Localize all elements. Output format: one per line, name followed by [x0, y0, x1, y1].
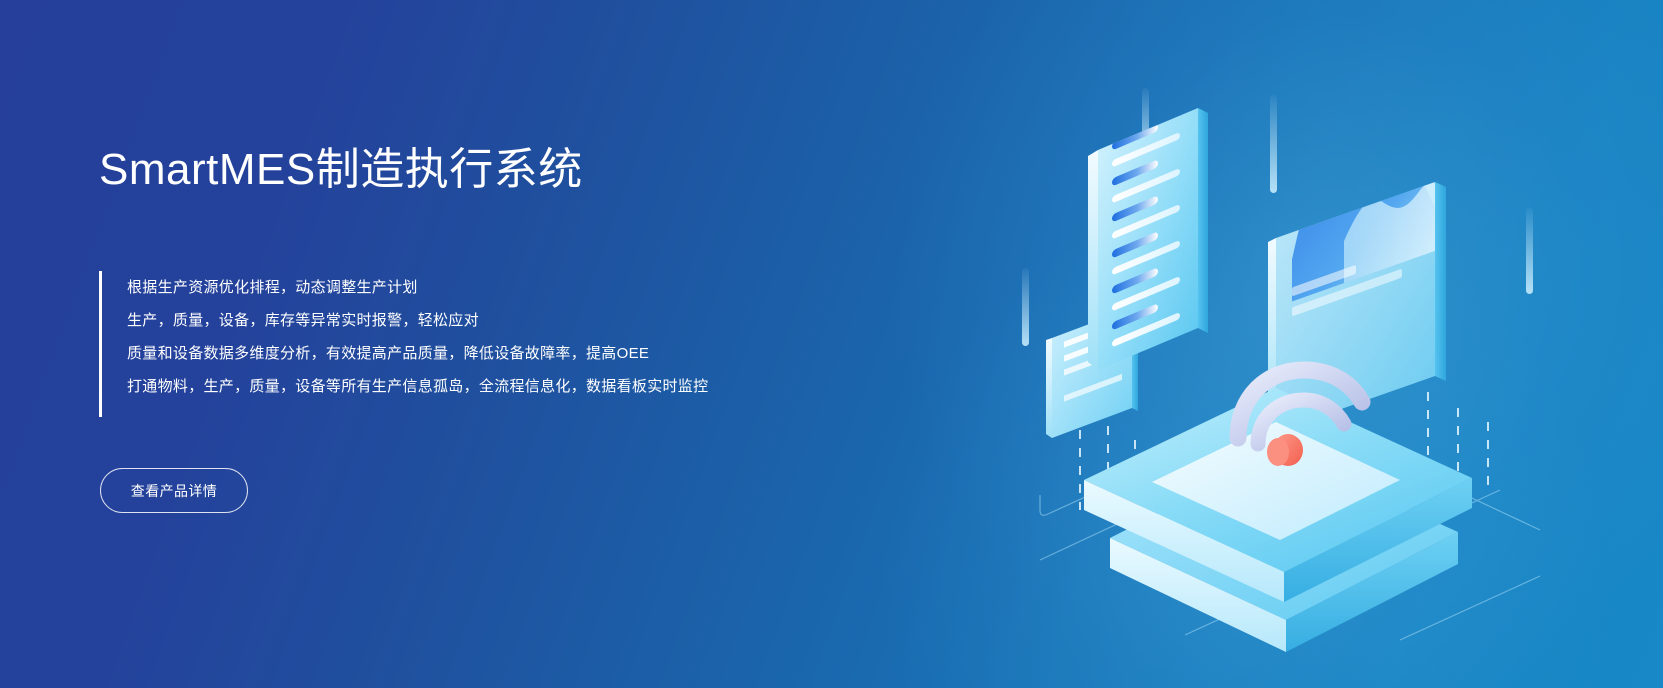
description-line: 生产，质量，设备，库存等异常实时报警，轻松应对 [127, 304, 708, 337]
description-line: 质量和设备数据多维度分析，有效提高产品质量，降低设备故障率，提高OEE [127, 337, 708, 370]
page-title: SmartMES制造执行系统 [99, 142, 583, 198]
description-line: 根据生产资源优化排程，动态调整生产计划 [127, 271, 708, 304]
banner-content: SmartMES制造执行系统 根据生产资源优化排程，动态调整生产计划 生产，质量… [99, 0, 979, 688]
description-line: 打通物料，生产，质量，设备等所有生产信息孤岛，全流程信息化，数据看板实时监控 [127, 370, 708, 403]
hero-banner: SmartMES制造执行系统 根据生产资源优化排程，动态调整生产计划 生产，质量… [0, 0, 1663, 688]
document-panel [1088, 96, 1208, 370]
view-product-details-button[interactable]: 查看产品详情 [100, 468, 248, 513]
description-block: 根据生产资源优化排程，动态调整生产计划 生产，质量，设备，库存等异常实时报警，轻… [99, 271, 708, 417]
isometric-illustration [980, 40, 1600, 680]
